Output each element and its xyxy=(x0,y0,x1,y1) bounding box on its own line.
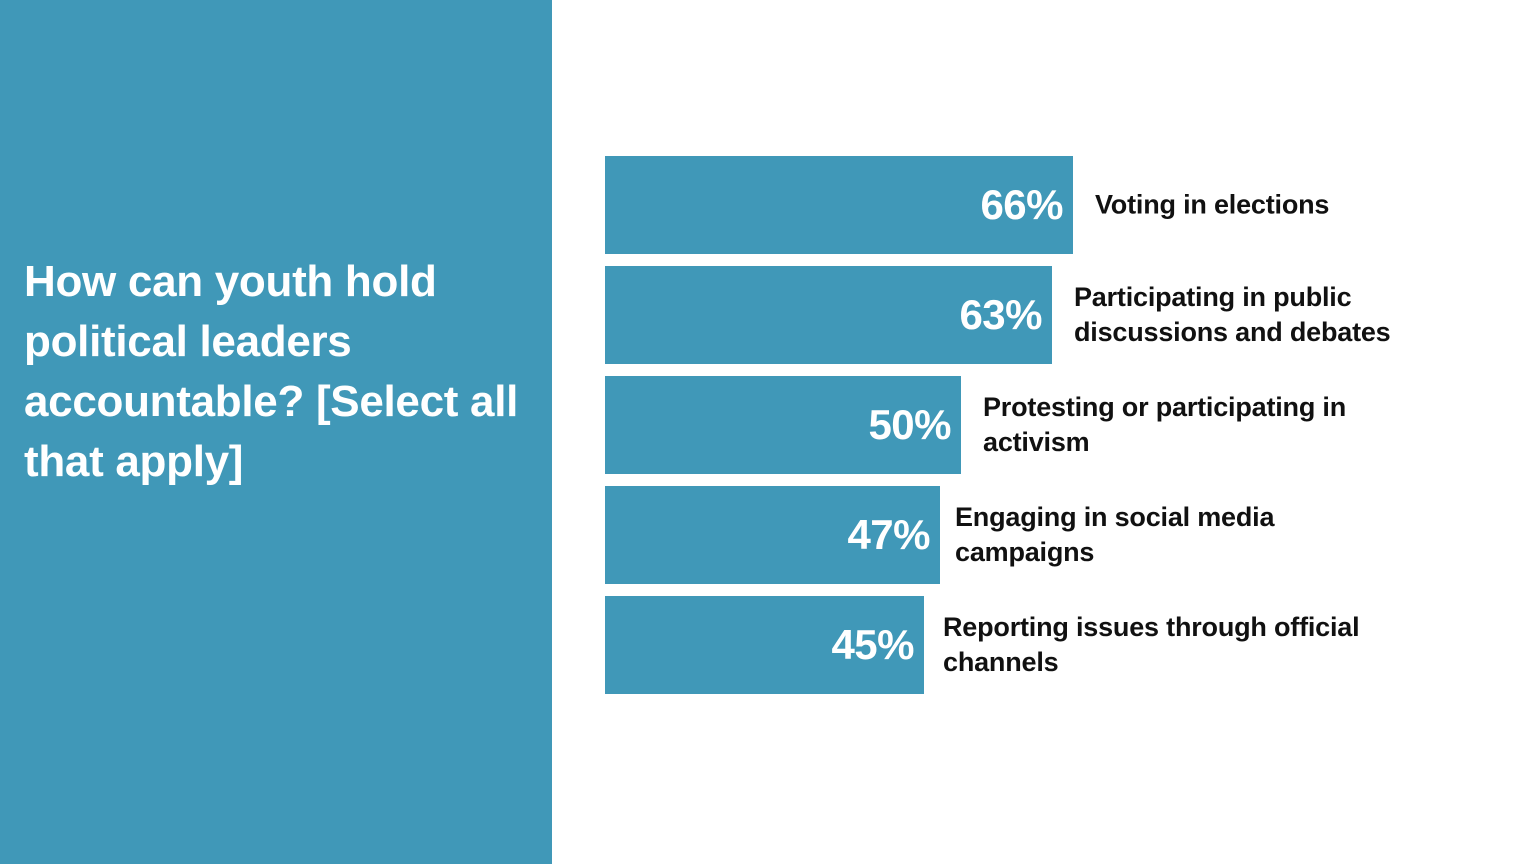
bar-category-label: Engaging in social media campaigns xyxy=(955,500,1274,570)
bar-value-label: 47% xyxy=(847,514,930,556)
bar-value-label: 45% xyxy=(831,624,914,666)
slide-root: How can youth hold political leaders acc… xyxy=(0,0,1536,864)
bar-row: 66% Voting in elections xyxy=(605,156,1505,254)
bar-row: 47% Engaging in social media campaigns xyxy=(605,486,1505,584)
bar-value-label: 50% xyxy=(868,404,951,446)
bar-row: 45% Reporting issues through official ch… xyxy=(605,596,1505,694)
bar-engaging-in-social-media: 47% xyxy=(605,486,940,584)
bar-row: 50% Protesting or participating in activ… xyxy=(605,376,1505,474)
bar-category-label: Participating in public discussions and … xyxy=(1074,280,1391,350)
page-title: How can youth hold political leaders acc… xyxy=(24,252,534,492)
bar-row: 63% Participating in public discussions … xyxy=(605,266,1505,364)
bar-category-label: Reporting issues through official channe… xyxy=(943,610,1359,680)
bar-voting-in-elections: 66% xyxy=(605,156,1073,254)
bar-protesting-or-activism: 50% xyxy=(605,376,961,474)
bar-chart: 66% Voting in elections 63% Participatin… xyxy=(605,156,1505,716)
bar-participating-in-public-discussions: 63% xyxy=(605,266,1052,364)
bar-category-label: Protesting or participating in activism xyxy=(983,390,1346,460)
left-title-panel: How can youth hold political leaders acc… xyxy=(0,0,552,864)
bar-value-label: 63% xyxy=(959,294,1042,336)
bar-value-label: 66% xyxy=(980,184,1063,226)
bar-category-label: Voting in elections xyxy=(1095,188,1329,223)
bar-reporting-issues-official-channels: 45% xyxy=(605,596,924,694)
